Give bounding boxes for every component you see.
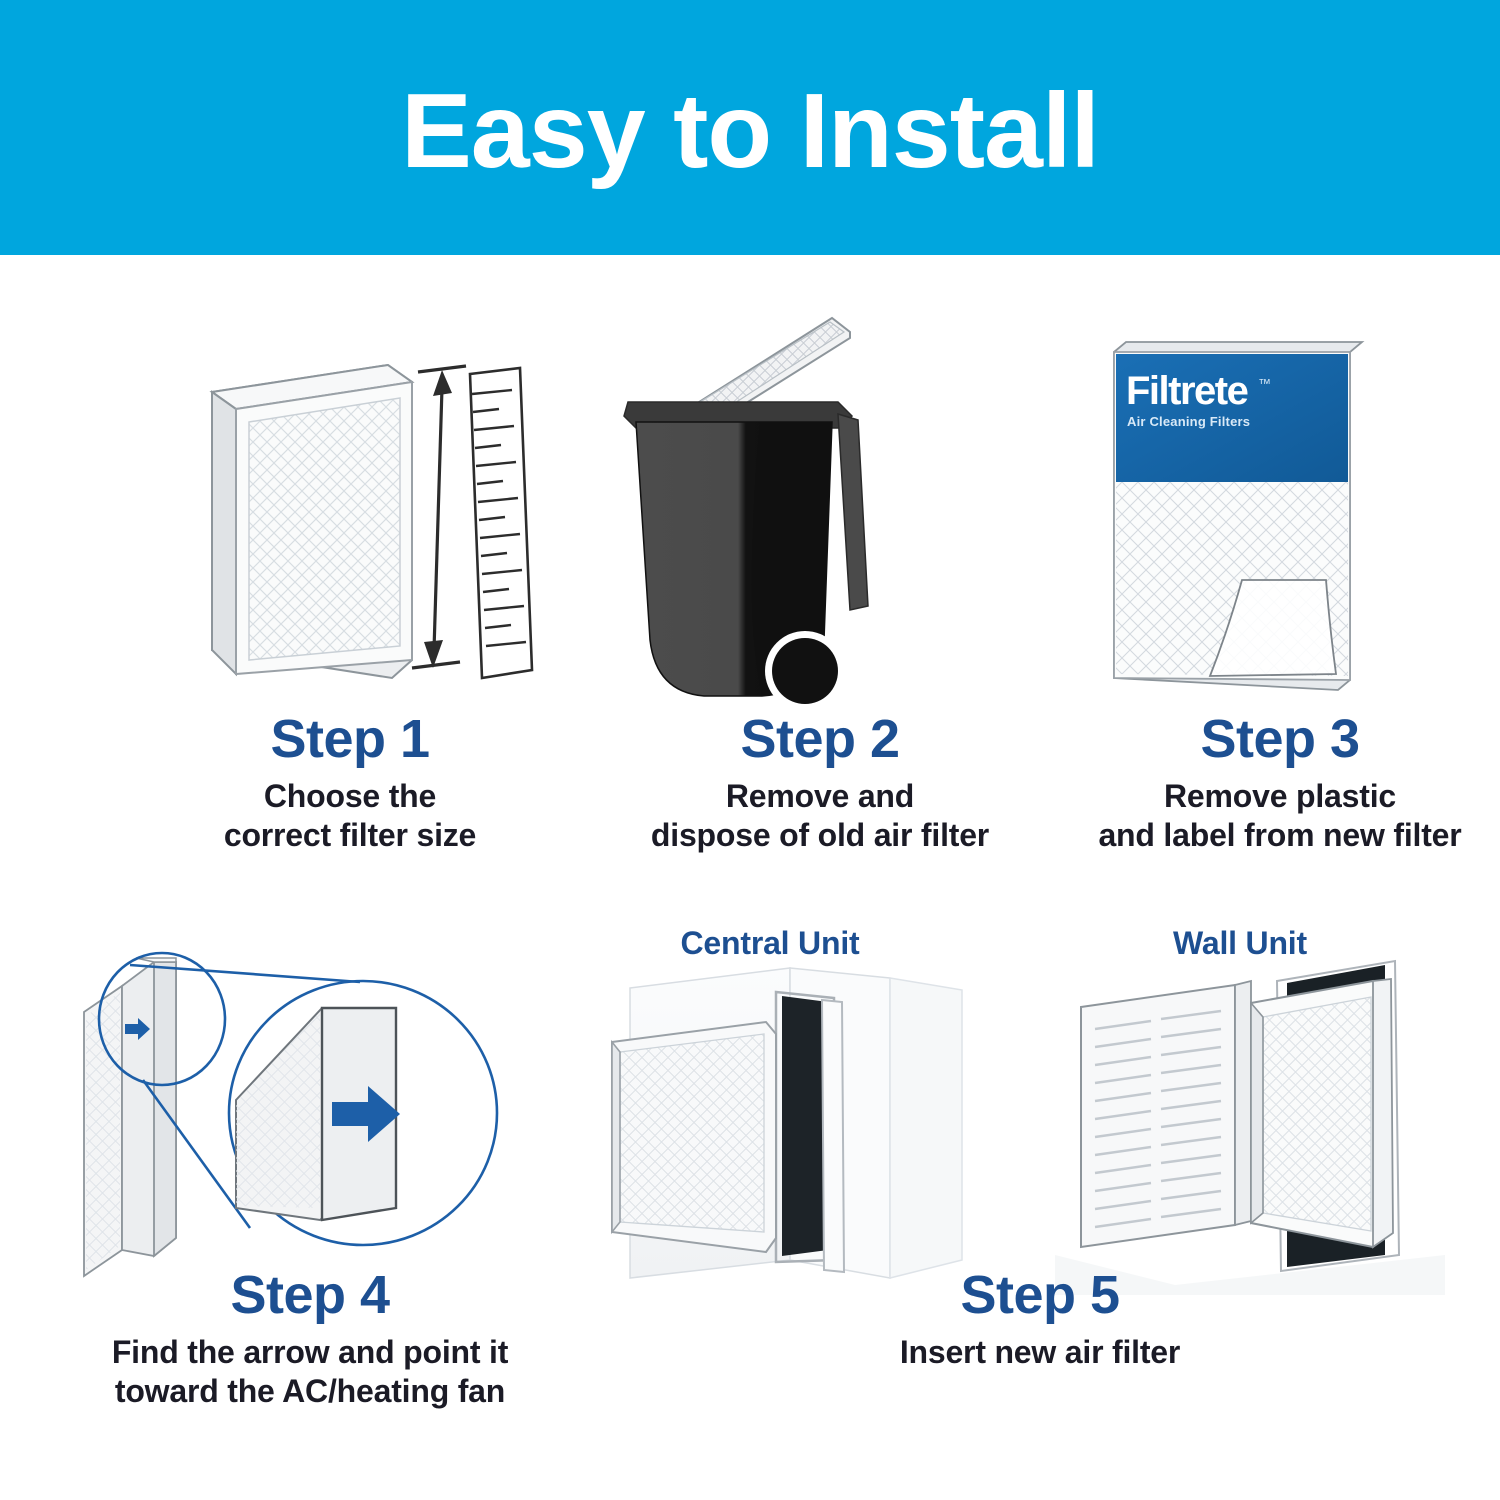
ruler-icon bbox=[470, 368, 532, 678]
step-3-title: Step 3 bbox=[1060, 712, 1500, 767]
measurement-arrow bbox=[412, 366, 466, 668]
air-filter-slab bbox=[212, 365, 412, 678]
step-5-central-unit-illustration bbox=[590, 960, 970, 1290]
step-1-title: Step 1 bbox=[150, 712, 550, 767]
step-1-illustration bbox=[120, 330, 560, 710]
step-1-description-line2: correct filter size bbox=[150, 816, 550, 855]
magnified-filter-edge bbox=[236, 1008, 400, 1220]
step-4-title: Step 4 bbox=[60, 1268, 560, 1323]
step-4-caption: Step 4 Find the arrow and point it towar… bbox=[60, 1268, 560, 1411]
step-5-description: Insert new air filter bbox=[820, 1333, 1260, 1372]
step-3-caption: Step 3 Remove plastic and label from new… bbox=[1060, 712, 1500, 855]
step-4-description: Find the arrow and point it toward the A… bbox=[60, 1333, 560, 1411]
step-3-description: Remove plastic and label from new filter bbox=[1060, 777, 1500, 855]
filtrete-brand-text: Filtrete bbox=[1126, 369, 1248, 413]
step-2-caption: Step 2 Remove and dispose of old air fil… bbox=[600, 712, 1040, 855]
step-5-title: Step 5 bbox=[820, 1268, 1260, 1323]
wall-unit-label: Wall Unit bbox=[1110, 925, 1370, 962]
step-5-description-line1: Insert new air filter bbox=[820, 1333, 1260, 1372]
page-header: Easy to Install bbox=[0, 0, 1500, 255]
step-2-illustration bbox=[600, 310, 940, 710]
page-title: Easy to Install bbox=[401, 78, 1099, 184]
new-filter-wall bbox=[1251, 979, 1393, 1247]
step-2-title: Step 2 bbox=[600, 712, 1040, 767]
filtrete-tagline-text: Air Cleaning Filters bbox=[1127, 414, 1250, 429]
new-filter-central bbox=[612, 1022, 776, 1252]
step-2-description: Remove and dispose of old air filter bbox=[600, 777, 1040, 855]
step-4-illustration bbox=[70, 920, 510, 1280]
svg-text:™: ™ bbox=[1258, 376, 1271, 391]
step-5-caption: Step 5 Insert new air filter bbox=[820, 1268, 1260, 1372]
louvered-grille-door bbox=[1081, 985, 1235, 1247]
step-4-description-line1: Find the arrow and point it bbox=[60, 1333, 560, 1372]
step-3-description-line2: and label from new filter bbox=[1060, 816, 1500, 855]
central-unit-slot bbox=[782, 996, 828, 1256]
step-1-description-line1: Choose the bbox=[150, 777, 550, 816]
bin-wheel bbox=[772, 638, 838, 704]
step-4-description-line2: toward the AC/heating fan bbox=[60, 1372, 560, 1411]
step-2-description-line2: dispose of old air filter bbox=[600, 816, 1040, 855]
step-3-description-line1: Remove plastic bbox=[1060, 777, 1500, 816]
step-5-wall-unit-illustration bbox=[1055, 955, 1445, 1295]
step-2-description-line1: Remove and bbox=[600, 777, 1040, 816]
infographic-page: Easy to Install bbox=[0, 0, 1500, 1500]
filter-edge-view bbox=[84, 958, 176, 1276]
step-1-caption: Step 1 Choose the correct filter size bbox=[150, 712, 550, 855]
step-3-illustration: Filtrete ™ Air Cleaning Filters bbox=[1090, 330, 1390, 700]
step-1-description: Choose the correct filter size bbox=[150, 777, 550, 855]
central-unit-label: Central Unit bbox=[640, 925, 900, 962]
